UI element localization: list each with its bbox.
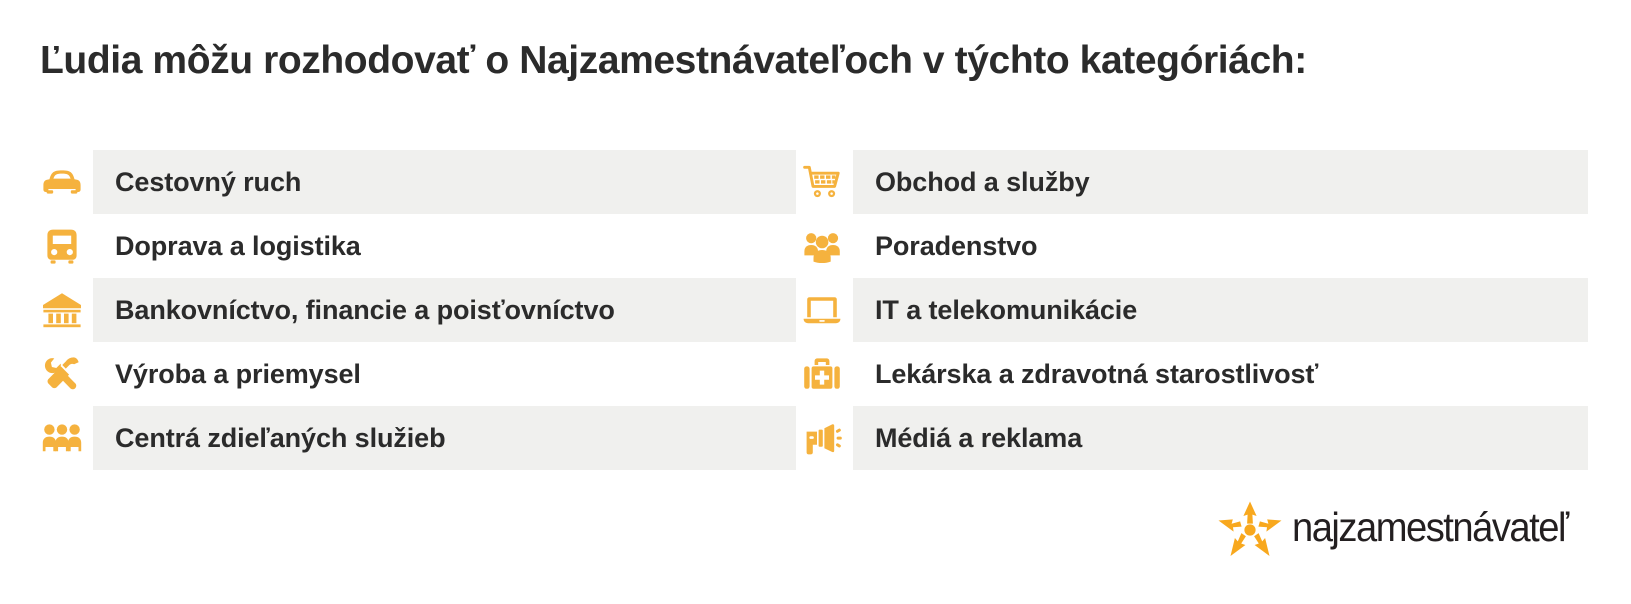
car-icon — [36, 150, 93, 214]
list-item-label: Poradenstvo — [853, 231, 1037, 262]
list-item[interactable]: Cestovný ruch — [36, 150, 796, 214]
consulting-people-icon — [796, 214, 853, 278]
brand-logo-text: najzamestnávateľ — [1292, 504, 1568, 551]
list-item[interactable]: Doprava a logistika — [36, 214, 796, 278]
list-item[interactable]: Lekárska a zdravotná starostlivosť — [796, 342, 1588, 406]
laptop-icon — [796, 278, 853, 342]
list-item[interactable]: Poradenstvo — [796, 214, 1588, 278]
list-item[interactable]: IT a telekomunikácie — [796, 278, 1588, 342]
list-item-label: Obchod a služby — [853, 167, 1090, 198]
list-item[interactable]: Výroba a priemysel — [36, 342, 796, 406]
category-column-left: Cestovný ruch Doprava a logistika — [36, 150, 796, 472]
list-item-label: Lekárska a zdravotná starostlivosť — [853, 359, 1318, 390]
people-group-icon — [36, 406, 93, 470]
list-item-label: Centrá zdieľaných služieb — [93, 423, 446, 454]
five-point-star-icon — [1216, 495, 1284, 559]
megaphone-icon — [796, 406, 853, 470]
list-item-label: IT a telekomunikácie — [853, 295, 1137, 326]
infographic-canvas: Ľudia môžu rozhodovať o Najzamestnávateľ… — [0, 0, 1631, 604]
brand-logo[interactable]: najzamestnávateľ — [1216, 492, 1588, 562]
category-columns: Cestovný ruch Doprava a logistika — [0, 150, 1631, 472]
list-item[interactable]: Bankovníctvo, financie a poisťovníctvo — [36, 278, 796, 342]
page-title: Ľudia môžu rozhodovať o Najzamestnávateľ… — [40, 38, 1600, 85]
list-item-label: Cestovný ruch — [93, 167, 301, 198]
list-item-label: Médiá a reklama — [853, 423, 1082, 454]
list-item[interactable]: Obchod a služby — [796, 150, 1588, 214]
list-item-label: Bankovníctvo, financie a poisťovníctvo — [93, 295, 615, 326]
bank-icon — [36, 278, 93, 342]
medical-bag-icon — [796, 342, 853, 406]
bus-icon — [36, 214, 93, 278]
list-item[interactable]: Médiá a reklama — [796, 406, 1588, 470]
list-item-label: Výroba a priemysel — [93, 359, 361, 390]
list-item[interactable]: Centrá zdieľaných služieb — [36, 406, 796, 470]
category-column-right: Obchod a služby — [796, 150, 1588, 472]
list-item-label: Doprava a logistika — [93, 231, 361, 262]
shopping-cart-icon — [796, 150, 853, 214]
tools-icon — [36, 342, 93, 406]
